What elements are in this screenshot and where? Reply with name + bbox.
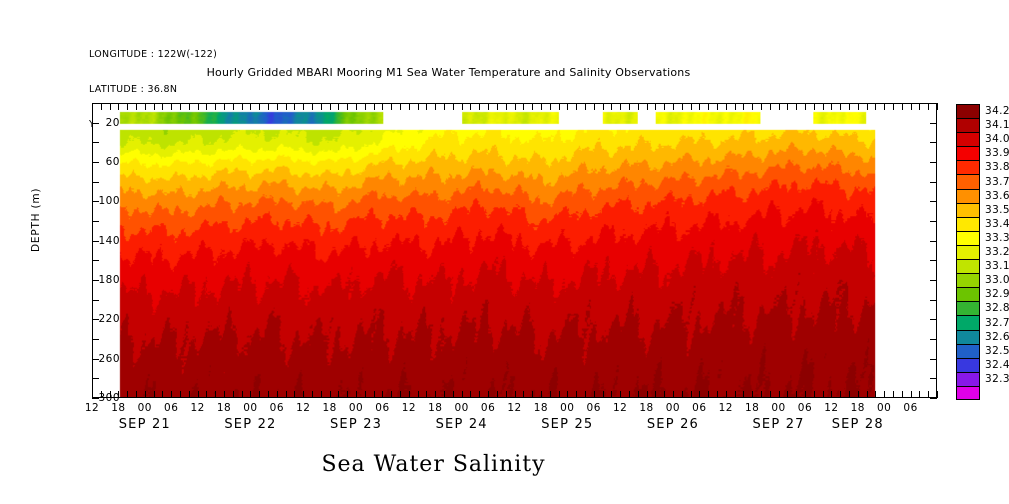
colorbar-swatch <box>956 174 980 188</box>
axis-tick <box>470 391 471 398</box>
axis-tick <box>611 103 612 110</box>
colorbar-tick-label: 33.15 <box>985 260 1009 272</box>
x-axis-hour-label: 12 <box>824 402 838 414</box>
y-axis-depth-label: 300 <box>80 392 120 404</box>
axis-tick <box>171 103 172 110</box>
axis-tick <box>550 103 551 110</box>
axis-tick <box>893 103 894 110</box>
axis-tick <box>347 103 348 110</box>
axis-tick <box>479 391 480 398</box>
axis-tick <box>743 103 744 110</box>
axis-tick <box>312 391 313 398</box>
axis-tick <box>92 182 99 183</box>
axis-tick <box>259 391 260 398</box>
x-axis-hour-label: 00 <box>349 402 363 414</box>
x-axis-day-label: SEP 27 <box>752 417 804 432</box>
colorbar-tick-label: 33.65 <box>985 190 1009 202</box>
axis-tick <box>726 391 727 398</box>
axis-tick <box>426 391 427 398</box>
axis-tick <box>479 103 480 110</box>
axis-tick <box>875 391 876 398</box>
axis-tick <box>497 103 498 110</box>
axis-tick <box>761 391 762 398</box>
colorbar-tick-label: 33.35 <box>985 232 1009 244</box>
axis-tick <box>867 391 868 398</box>
y-axis-depth-label: 20 <box>80 117 120 129</box>
colorbar-swatch <box>956 301 980 315</box>
axis-tick <box>523 103 524 110</box>
axis-tick <box>893 391 894 398</box>
axis-tick <box>303 103 304 110</box>
axis-tick <box>699 391 700 398</box>
x-axis-hour-label: 00 <box>243 402 257 414</box>
colorbar <box>956 104 980 400</box>
y-axis-depth-label: 100 <box>80 195 120 207</box>
axis-tick <box>682 391 683 398</box>
axis-tick <box>930 162 937 163</box>
axis-tick <box>356 103 357 110</box>
axis-tick <box>682 103 683 110</box>
axis-tick <box>532 103 533 110</box>
axis-tick <box>902 103 903 110</box>
axis-tick <box>162 391 163 398</box>
axis-tick <box>620 103 621 110</box>
axis-tick <box>330 391 331 398</box>
axis-tick <box>444 391 445 398</box>
axis-tick <box>919 391 920 398</box>
axis-tick <box>294 391 295 398</box>
axis-tick <box>400 103 401 110</box>
axis-tick <box>611 391 612 398</box>
colorbar-tick-label: 32.75 <box>985 317 1009 329</box>
x-axis-hour-label: 06 <box>375 402 389 414</box>
axis-tick <box>242 391 243 398</box>
x-axis-day-label: SEP 23 <box>330 417 382 432</box>
y-axis-depth-label: 180 <box>80 274 120 286</box>
colorbar-tick-label: 32.35 <box>985 373 1009 385</box>
axis-tick <box>180 391 181 398</box>
axis-tick <box>453 103 454 110</box>
colorbar-swatch <box>956 146 980 160</box>
axis-tick <box>928 103 929 110</box>
x-axis-hour-label: 06 <box>270 402 284 414</box>
colorbar-tick-label: 33.85 <box>985 161 1009 173</box>
y-axis-depth-label: 220 <box>80 313 120 325</box>
colorbar-tick-label: 32.65 <box>985 331 1009 343</box>
axis-tick <box>162 103 163 110</box>
x-axis-hour-label: 00 <box>877 402 891 414</box>
axis-tick <box>823 103 824 110</box>
axis-tick <box>930 280 937 281</box>
latitude-text: LATITUDE : 36.8N <box>89 84 217 96</box>
x-axis-hour-label: 00 <box>455 402 469 414</box>
axis-tick <box>752 391 753 398</box>
x-axis-hour-label: 06 <box>798 402 812 414</box>
axis-tick <box>321 391 322 398</box>
axis-tick <box>796 103 797 110</box>
axis-tick <box>462 103 463 110</box>
axis-tick <box>849 103 850 110</box>
axis-tick <box>224 391 225 398</box>
axis-tick <box>691 103 692 110</box>
y-axis-depth-label: 140 <box>80 235 120 247</box>
axis-tick <box>761 103 762 110</box>
axis-tick <box>937 103 938 110</box>
axis-tick <box>559 103 560 110</box>
colorbar-tick-label: 34.25 <box>985 105 1009 117</box>
axis-tick <box>382 391 383 398</box>
colorbar-swatch <box>956 203 980 217</box>
axis-tick <box>418 103 419 110</box>
axis-tick <box>259 103 260 110</box>
axis-tick <box>426 103 427 110</box>
axis-tick <box>814 391 815 398</box>
axis-tick <box>638 103 639 110</box>
axis-tick <box>930 339 937 340</box>
axis-tick <box>805 103 806 110</box>
axis-tick <box>92 260 99 261</box>
x-axis-day-label: SEP 24 <box>436 417 488 432</box>
axis-tick <box>930 319 937 320</box>
axis-tick <box>250 391 251 398</box>
axis-tick <box>911 103 912 110</box>
axis-tick <box>110 103 111 110</box>
x-axis-hour-label: 12 <box>719 402 733 414</box>
axis-tick <box>233 103 234 110</box>
axis-tick <box>919 103 920 110</box>
axis-tick <box>206 103 207 110</box>
axis-tick <box>930 221 937 222</box>
x-axis-hour-label: 06 <box>903 402 917 414</box>
axis-tick <box>770 103 771 110</box>
axis-tick <box>462 391 463 398</box>
axis-tick <box>136 391 137 398</box>
axis-tick <box>717 103 718 110</box>
axis-tick <box>594 103 595 110</box>
axis-tick <box>391 103 392 110</box>
axis-tick <box>647 391 648 398</box>
colorbar-swatch <box>956 118 980 132</box>
axis-tick <box>382 103 383 110</box>
x-axis-hour-label: 12 <box>402 402 416 414</box>
axis-tick <box>435 391 436 398</box>
colorbar-tick-label: 33.75 <box>985 176 1009 188</box>
axis-tick <box>127 103 128 110</box>
axis-tick <box>136 103 137 110</box>
axis-tick <box>930 182 937 183</box>
axis-tick <box>664 103 665 110</box>
axis-tick <box>435 103 436 110</box>
colorbar-swatch <box>956 344 980 358</box>
salinity-contour-plot <box>92 103 937 398</box>
colorbar-swatch <box>956 315 980 329</box>
axis-tick <box>294 103 295 110</box>
axis-tick <box>930 398 937 399</box>
axis-tick <box>198 391 199 398</box>
axis-tick <box>840 391 841 398</box>
axis-tick <box>488 103 489 110</box>
axis-tick <box>198 103 199 110</box>
axis-tick <box>594 391 595 398</box>
axis-tick <box>338 103 339 110</box>
axis-tick <box>180 103 181 110</box>
axis-tick <box>374 391 375 398</box>
colorbar-swatch <box>956 386 980 400</box>
x-axis-day-label: SEP 26 <box>647 417 699 432</box>
axis-tick <box>911 391 912 398</box>
y-axis-depth-label: 60 <box>80 156 120 168</box>
x-axis-hour-label: 12 <box>507 402 521 414</box>
axis-tick <box>286 391 287 398</box>
axis-tick <box>92 221 99 222</box>
axis-tick <box>312 103 313 110</box>
chart-title: Hourly Gridded MBARI Mooring M1 Sea Wate… <box>0 66 953 79</box>
axis-tick <box>647 103 648 110</box>
axis-tick <box>629 391 630 398</box>
axis-tick <box>717 391 718 398</box>
x-axis-hour-label: 18 <box>745 402 759 414</box>
x-axis-day-label: SEP 22 <box>224 417 276 432</box>
axis-tick <box>673 391 674 398</box>
axis-tick <box>567 103 568 110</box>
x-axis-hour-label: 18 <box>428 402 442 414</box>
axis-tick <box>470 103 471 110</box>
axis-tick <box>365 103 366 110</box>
colorbar-tick-label: 32.55 <box>985 345 1009 357</box>
axis-tick <box>268 103 269 110</box>
colorbar-tick-label: 33.05 <box>985 274 1009 286</box>
axis-tick <box>233 391 234 398</box>
axis-tick <box>286 103 287 110</box>
x-axis-hour-label: 18 <box>534 402 548 414</box>
axis-tick <box>101 103 102 110</box>
x-axis-hour-label: 18 <box>639 402 653 414</box>
axis-tick <box>840 103 841 110</box>
axis-tick <box>92 103 93 110</box>
axis-tick <box>92 300 99 301</box>
colorbar-swatch <box>956 330 980 344</box>
axis-tick <box>787 103 788 110</box>
colorbar-tick-label: 33.25 <box>985 246 1009 258</box>
axis-tick <box>576 103 577 110</box>
axis-tick <box>215 391 216 398</box>
axis-tick <box>779 103 780 110</box>
axis-tick <box>585 391 586 398</box>
axis-tick <box>867 103 868 110</box>
axis-tick <box>603 103 604 110</box>
axis-tick <box>550 391 551 398</box>
axis-tick <box>930 201 937 202</box>
colorbar-tick-label: 32.95 <box>985 288 1009 300</box>
axis-tick <box>576 391 577 398</box>
axis-tick <box>515 391 516 398</box>
colorbar-title: Sea Water Salinity <box>0 452 938 477</box>
axis-tick <box>770 391 771 398</box>
axis-tick <box>250 103 251 110</box>
colorbar-tick-label: 34.05 <box>985 133 1009 145</box>
axis-tick <box>206 391 207 398</box>
axis-tick <box>92 142 99 143</box>
axis-tick <box>92 378 99 379</box>
axis-tick <box>638 391 639 398</box>
axis-tick <box>400 391 401 398</box>
axis-tick <box>699 103 700 110</box>
axis-tick <box>127 391 128 398</box>
x-axis-hour-label: 12 <box>613 402 627 414</box>
axis-tick <box>664 391 665 398</box>
axis-tick <box>858 103 859 110</box>
axis-tick <box>303 391 304 398</box>
axis-tick <box>787 391 788 398</box>
axis-tick <box>268 391 269 398</box>
axis-tick <box>277 103 278 110</box>
colorbar-swatch <box>956 372 980 386</box>
colorbar-swatch <box>956 189 980 203</box>
axis-tick <box>189 391 190 398</box>
colorbar-tick-label: 34.15 <box>985 119 1009 131</box>
x-axis-hour-label: 12 <box>190 402 204 414</box>
x-axis-hour-label: 00 <box>771 402 785 414</box>
axis-tick <box>374 103 375 110</box>
axis-tick <box>814 103 815 110</box>
axis-tick <box>930 142 937 143</box>
colorbar-swatch <box>956 287 980 301</box>
axis-tick <box>506 103 507 110</box>
axis-tick <box>189 103 190 110</box>
axis-tick <box>242 103 243 110</box>
colorbar-swatch <box>956 245 980 259</box>
axis-tick <box>118 103 119 110</box>
colorbar-swatch <box>956 132 980 146</box>
axis-tick <box>338 391 339 398</box>
x-axis-day-label: SEP 21 <box>119 417 171 432</box>
axis-tick <box>708 103 709 110</box>
axis-tick <box>365 391 366 398</box>
colorbar-tick-label: 33.55 <box>985 204 1009 216</box>
axis-tick <box>735 391 736 398</box>
axis-tick <box>875 103 876 110</box>
axis-tick <box>930 123 937 124</box>
axis-tick <box>488 391 489 398</box>
axis-tick <box>347 391 348 398</box>
axis-tick <box>858 391 859 398</box>
x-axis-day-label: SEP 25 <box>541 417 593 432</box>
axis-tick <box>532 391 533 398</box>
axis-tick <box>559 391 560 398</box>
axis-tick <box>930 260 937 261</box>
axis-tick <box>145 103 146 110</box>
axis-tick <box>884 391 885 398</box>
axis-tick <box>930 378 937 379</box>
axis-tick <box>779 391 780 398</box>
axis-tick <box>497 391 498 398</box>
colorbar-tick-label: 33.45 <box>985 218 1009 230</box>
axis-tick <box>655 391 656 398</box>
axis-tick <box>444 103 445 110</box>
axis-tick <box>154 391 155 398</box>
axis-tick <box>515 103 516 110</box>
axis-tick <box>930 300 937 301</box>
axis-tick <box>796 391 797 398</box>
axis-tick <box>330 103 331 110</box>
x-axis-hour-label: 12 <box>296 402 310 414</box>
axis-tick <box>321 103 322 110</box>
axis-tick <box>930 359 937 360</box>
axis-tick <box>506 391 507 398</box>
colorbar-tick-label: 32.45 <box>985 359 1009 371</box>
axis-tick <box>735 103 736 110</box>
axis-tick <box>937 391 938 398</box>
axis-tick <box>277 391 278 398</box>
x-axis-hour-label: 06 <box>481 402 495 414</box>
x-axis-hour-label: 06 <box>587 402 601 414</box>
axis-tick <box>849 391 850 398</box>
x-axis-hour-label: 00 <box>560 402 574 414</box>
axis-tick <box>567 391 568 398</box>
axis-tick <box>708 391 709 398</box>
colorbar-tick-label: 33.95 <box>985 147 1009 159</box>
salinity-heatmap-canvas <box>93 104 936 397</box>
axis-tick <box>629 103 630 110</box>
x-axis-hour-label: 06 <box>692 402 706 414</box>
axis-tick <box>154 103 155 110</box>
axis-tick <box>145 391 146 398</box>
axis-tick <box>743 391 744 398</box>
colorbar-swatch <box>956 273 980 287</box>
x-axis-hour-label: 18 <box>217 402 231 414</box>
colorbar-tick-label: 32.85 <box>985 302 1009 314</box>
axis-tick <box>541 391 542 398</box>
colorbar-swatch <box>956 259 980 273</box>
longitude-text: LONGITUDE : 122W(-122) <box>89 49 217 61</box>
x-axis-hour-label: 00 <box>666 402 680 414</box>
axis-tick <box>391 391 392 398</box>
axis-tick <box>224 103 225 110</box>
axis-tick <box>930 241 937 242</box>
axis-tick <box>523 391 524 398</box>
axis-tick <box>171 391 172 398</box>
axis-tick <box>603 391 604 398</box>
axis-tick <box>418 391 419 398</box>
axis-tick <box>823 391 824 398</box>
axis-tick <box>356 391 357 398</box>
axis-tick <box>831 391 832 398</box>
axis-tick <box>928 391 929 398</box>
colorbar-swatch <box>956 217 980 231</box>
axis-tick <box>655 103 656 110</box>
x-axis-day-label: SEP 28 <box>832 417 884 432</box>
axis-tick <box>585 103 586 110</box>
axis-tick <box>726 103 727 110</box>
x-axis-hour-label: 00 <box>138 402 152 414</box>
axis-tick <box>805 391 806 398</box>
axis-tick <box>620 391 621 398</box>
axis-tick <box>752 103 753 110</box>
axis-tick <box>884 103 885 110</box>
axis-tick <box>902 391 903 398</box>
axis-tick <box>215 103 216 110</box>
axis-tick <box>409 391 410 398</box>
colorbar-swatch <box>956 104 980 118</box>
axis-tick <box>453 391 454 398</box>
axis-tick <box>831 103 832 110</box>
axis-tick <box>541 103 542 110</box>
x-axis-hour-label: 06 <box>164 402 178 414</box>
axis-tick <box>409 103 410 110</box>
x-axis-hour-label: 18 <box>851 402 865 414</box>
x-axis-hour-label: 18 <box>322 402 336 414</box>
axis-tick <box>673 103 674 110</box>
